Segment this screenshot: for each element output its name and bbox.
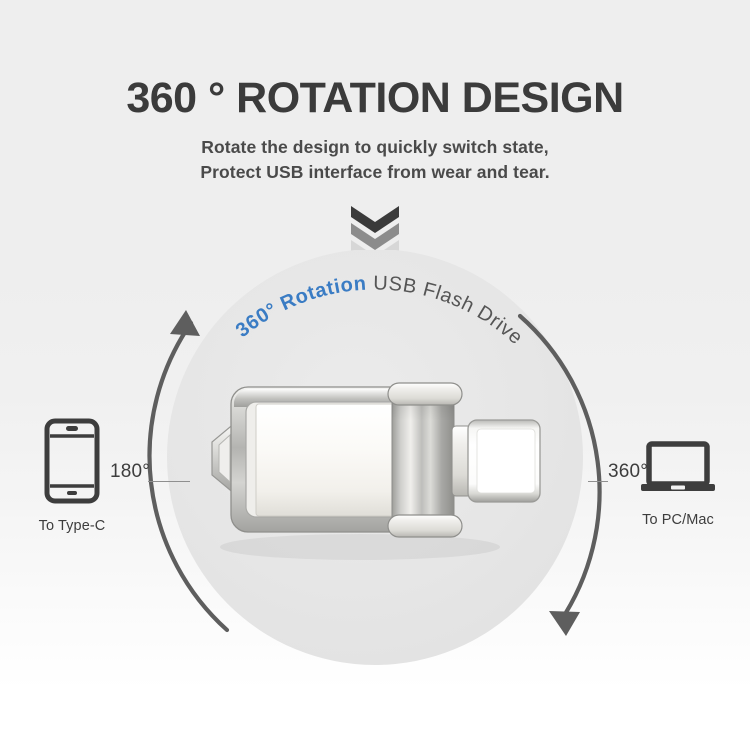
hinge-cap-bottom: [388, 515, 462, 537]
page-title: 360 ° ROTATION DESIGN: [0, 74, 750, 123]
angle-leader-line-left: [148, 481, 190, 482]
rotation-arrow-head-right: [549, 611, 580, 636]
subtitle-line-2: Protect USB interface from wear and tear…: [0, 162, 750, 183]
usb-c-connector-face: [477, 429, 535, 493]
target-device-pc-mac: To PC/Mac: [618, 440, 738, 528]
angle-leader-line-right: [588, 481, 608, 482]
product-infographic: 360 ° ROTATION DESIGN Rotate the design …: [0, 0, 750, 750]
hinge-cap-top: [388, 383, 462, 405]
right-device-caption: To PC/Mac: [618, 512, 738, 528]
subtitle-line-1: Rotate the design to quickly switch stat…: [0, 137, 750, 158]
rotation-arrow-head-left: [170, 310, 200, 336]
left-device-caption: To Type-C: [12, 518, 132, 534]
angle-label-left: 180°: [110, 461, 150, 483]
angle-label-right: 360°: [608, 461, 648, 483]
